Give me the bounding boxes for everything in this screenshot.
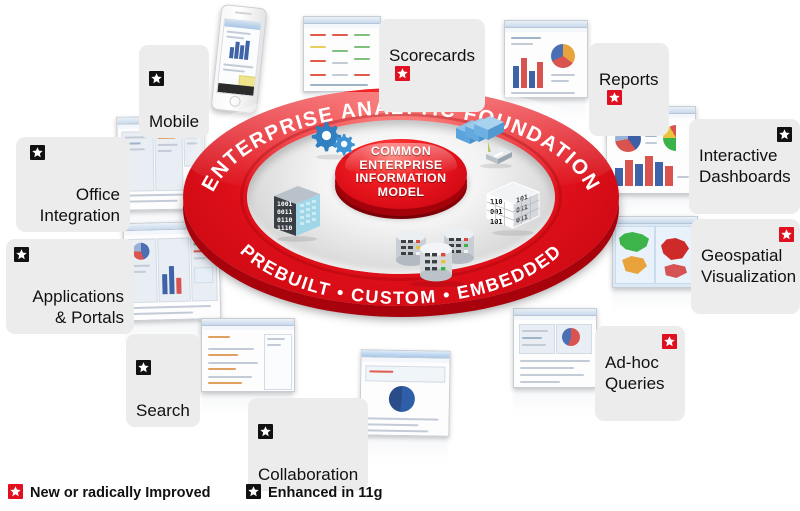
- new-improved-badge-icon: [662, 334, 677, 349]
- database-cylinders-icon: [394, 226, 480, 288]
- thumbnail-adhoc-queries: [513, 308, 597, 388]
- label-ad-hoc-queries[interactable]: Ad-hoc Queries: [595, 326, 685, 421]
- thumb-titlebar: [202, 319, 294, 326]
- svg-text:1001: 1001: [277, 200, 293, 208]
- label-applications-portals[interactable]: Applications & Portals: [6, 239, 134, 334]
- thumbnail-collaboration: [359, 349, 450, 437]
- diagram-canvas: ENTERPRISE ANALYTIC FOUNDATION PREBUILT …: [0, 0, 800, 511]
- binary-building-icon: 1001 0011 0110 1110: [268, 182, 330, 244]
- phone-speaker: [235, 11, 252, 15]
- thumb-body: [360, 361, 449, 436]
- label-interactive-dashboards[interactable]: Interactive Dashboards: [689, 119, 800, 214]
- enhanced-badge-icon: [30, 145, 45, 160]
- label-text: Applications & Portals: [32, 287, 124, 327]
- label-geospatial-visualization[interactable]: Geospatial Visualization: [691, 219, 800, 314]
- phone-screen: [216, 18, 262, 97]
- label-reports[interactable]: Reports: [589, 43, 669, 136]
- legend-text: Enhanced in 11g: [268, 485, 382, 501]
- label-scorecards[interactable]: Scorecards: [379, 19, 485, 112]
- thumbnail-geospatial: [612, 216, 698, 288]
- enhanced-badge-icon: [149, 71, 164, 86]
- new-improved-badge-icon: [607, 90, 622, 105]
- label-text: Scorecards: [389, 46, 475, 65]
- label-text: Geospatial Visualization: [701, 246, 796, 286]
- label-search[interactable]: Search: [126, 334, 200, 427]
- thumb-titlebar: [613, 217, 697, 224]
- thumb-titlebar: [505, 21, 587, 28]
- new-improved-badge-icon: [8, 484, 23, 499]
- legend-divider: [0, 468, 800, 469]
- enhanced-badge-icon: [258, 424, 273, 439]
- legend: New or radically Improved Enhanced in 11…: [0, 478, 800, 511]
- binary-cube-icon: 110 001 101 101 011 011: [483, 176, 547, 240]
- label-text: Search: [136, 401, 190, 420]
- new-improved-badge-icon: [779, 227, 794, 242]
- label-text: Ad-hoc Queries: [605, 353, 665, 393]
- blue-servers-icon: [452, 114, 514, 170]
- enhanced-badge-icon: [136, 360, 151, 375]
- thumbnail-reflection: [513, 386, 595, 414]
- svg-text:0011: 0011: [277, 208, 293, 216]
- thumbnail-scorecards: [303, 16, 381, 92]
- legend-text: New or radically Improved: [30, 485, 211, 501]
- label-text: Office Integration: [40, 185, 120, 225]
- enhanced-badge-icon: [777, 127, 792, 142]
- thumbnail-reflection: [360, 434, 448, 462]
- thumbnail-reports: [504, 20, 588, 98]
- thumb-body: [202, 330, 294, 391]
- enhanced-badge-icon: [14, 247, 29, 262]
- gears-icon: [307, 118, 359, 160]
- svg-text:1110: 1110: [277, 224, 293, 232]
- label-mobile[interactable]: Mobile: [139, 45, 209, 138]
- new-improved-badge-icon: [395, 66, 410, 81]
- label-text: Interactive Dashboards: [699, 146, 791, 186]
- thumb-body: [613, 224, 697, 287]
- thumb-body: [304, 28, 380, 91]
- label-office-integration[interactable]: Office Integration: [16, 137, 130, 232]
- svg-text:0110: 0110: [277, 216, 293, 224]
- legend-item-new-improved: New or radically Improved: [8, 484, 211, 501]
- thumb-body: [514, 320, 596, 387]
- thumbnail-search: [201, 318, 295, 392]
- label-text: Reports: [599, 70, 659, 89]
- enhanced-badge-icon: [246, 484, 261, 499]
- label-text: Mobile: [149, 112, 199, 131]
- svg-text:101: 101: [490, 218, 503, 226]
- thumb-titlebar: [304, 17, 380, 24]
- svg-text:110: 110: [490, 198, 503, 206]
- thumbnail-reflection: [612, 286, 696, 312]
- legend-item-enhanced-11g: Enhanced in 11g: [246, 484, 382, 501]
